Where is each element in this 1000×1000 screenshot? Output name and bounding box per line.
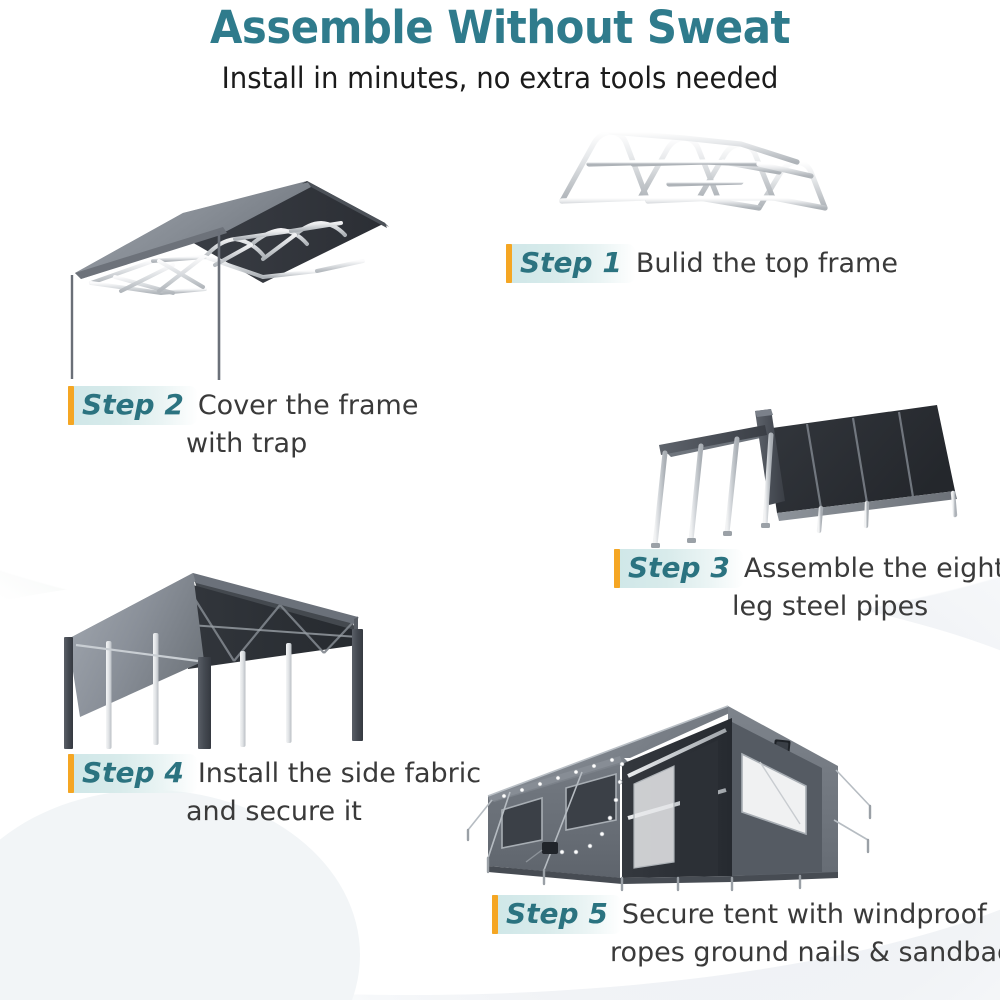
covered-frame-illustration (55, 165, 395, 380)
step-3-text-2: leg steel pipes (732, 588, 928, 624)
step-1-label: Step 1 (520, 246, 622, 279)
step-3-line-2: leg steel pipes (614, 588, 1000, 624)
step-1-line-1: Step 1Bulid the top frame (506, 244, 898, 283)
step-4-text-2: and secure it (186, 793, 362, 829)
step-3-label: Step 3 (628, 551, 730, 584)
step-3-caption: Step 3Assemble the eight leg steel pipes (614, 549, 1000, 624)
page-title: Assemble Without Sweat (35, 0, 965, 53)
step-5-label: Step 5 (506, 897, 608, 930)
step-4-badge: Step 4 (68, 754, 198, 793)
step-3-badge: Step 3 (614, 549, 744, 588)
step-5-badge: Step 5 (492, 895, 622, 934)
step-3-line-1: Step 3Assemble the eight (614, 549, 1000, 588)
step-5-caption: Step 5Secure tent with windproof ropes g… (492, 895, 1000, 970)
step-4-caption: Step 4Install the side fabric and secure… (68, 754, 481, 829)
step-2-label: Step 2 (82, 388, 184, 421)
top-frame-illustration (545, 108, 845, 248)
step-4-text-1: Install the side fabric (198, 758, 481, 789)
step-2-caption: Step 2Cover the frame with trap (68, 386, 418, 461)
page-subtitle: Install in minutes, no extra tools neede… (25, 63, 975, 95)
step-1-badge: Step 1 (506, 244, 636, 283)
step-1-caption: Step 1Bulid the top frame (506, 244, 898, 283)
step-2-line-2: with trap (68, 425, 418, 461)
step-4-line-1: Step 4Install the side fabric (68, 754, 481, 793)
step-2-text-2: with trap (186, 425, 307, 461)
step-2-text-1: Cover the frame (198, 390, 419, 421)
step-5-line-1: Step 5Secure tent with windproof (492, 895, 1000, 934)
step-3-text-1: Assemble the eight (744, 553, 1000, 584)
header: Assemble Without Sweat Install in minute… (0, 0, 1000, 94)
finished-tent-illustration (470, 700, 890, 895)
step-1-text-1: Bulid the top frame (636, 248, 898, 279)
leg-pipes-illustration (625, 405, 975, 565)
step-2-badge: Step 2 (68, 386, 198, 425)
standing-carport-illustration (58, 565, 398, 750)
step-5-line-2: ropes ground nails & sandbags (492, 934, 1000, 970)
step-4-label: Step 4 (82, 756, 184, 789)
step-5-text-1: Secure tent with windproof (622, 899, 987, 930)
step-5-text-2: ropes ground nails & sandbags (610, 934, 1000, 970)
step-2-line-1: Step 2Cover the frame (68, 386, 418, 425)
infographic-page: Assemble Without Sweat Install in minute… (0, 0, 1000, 1000)
step-4-line-2: and secure it (68, 793, 481, 829)
